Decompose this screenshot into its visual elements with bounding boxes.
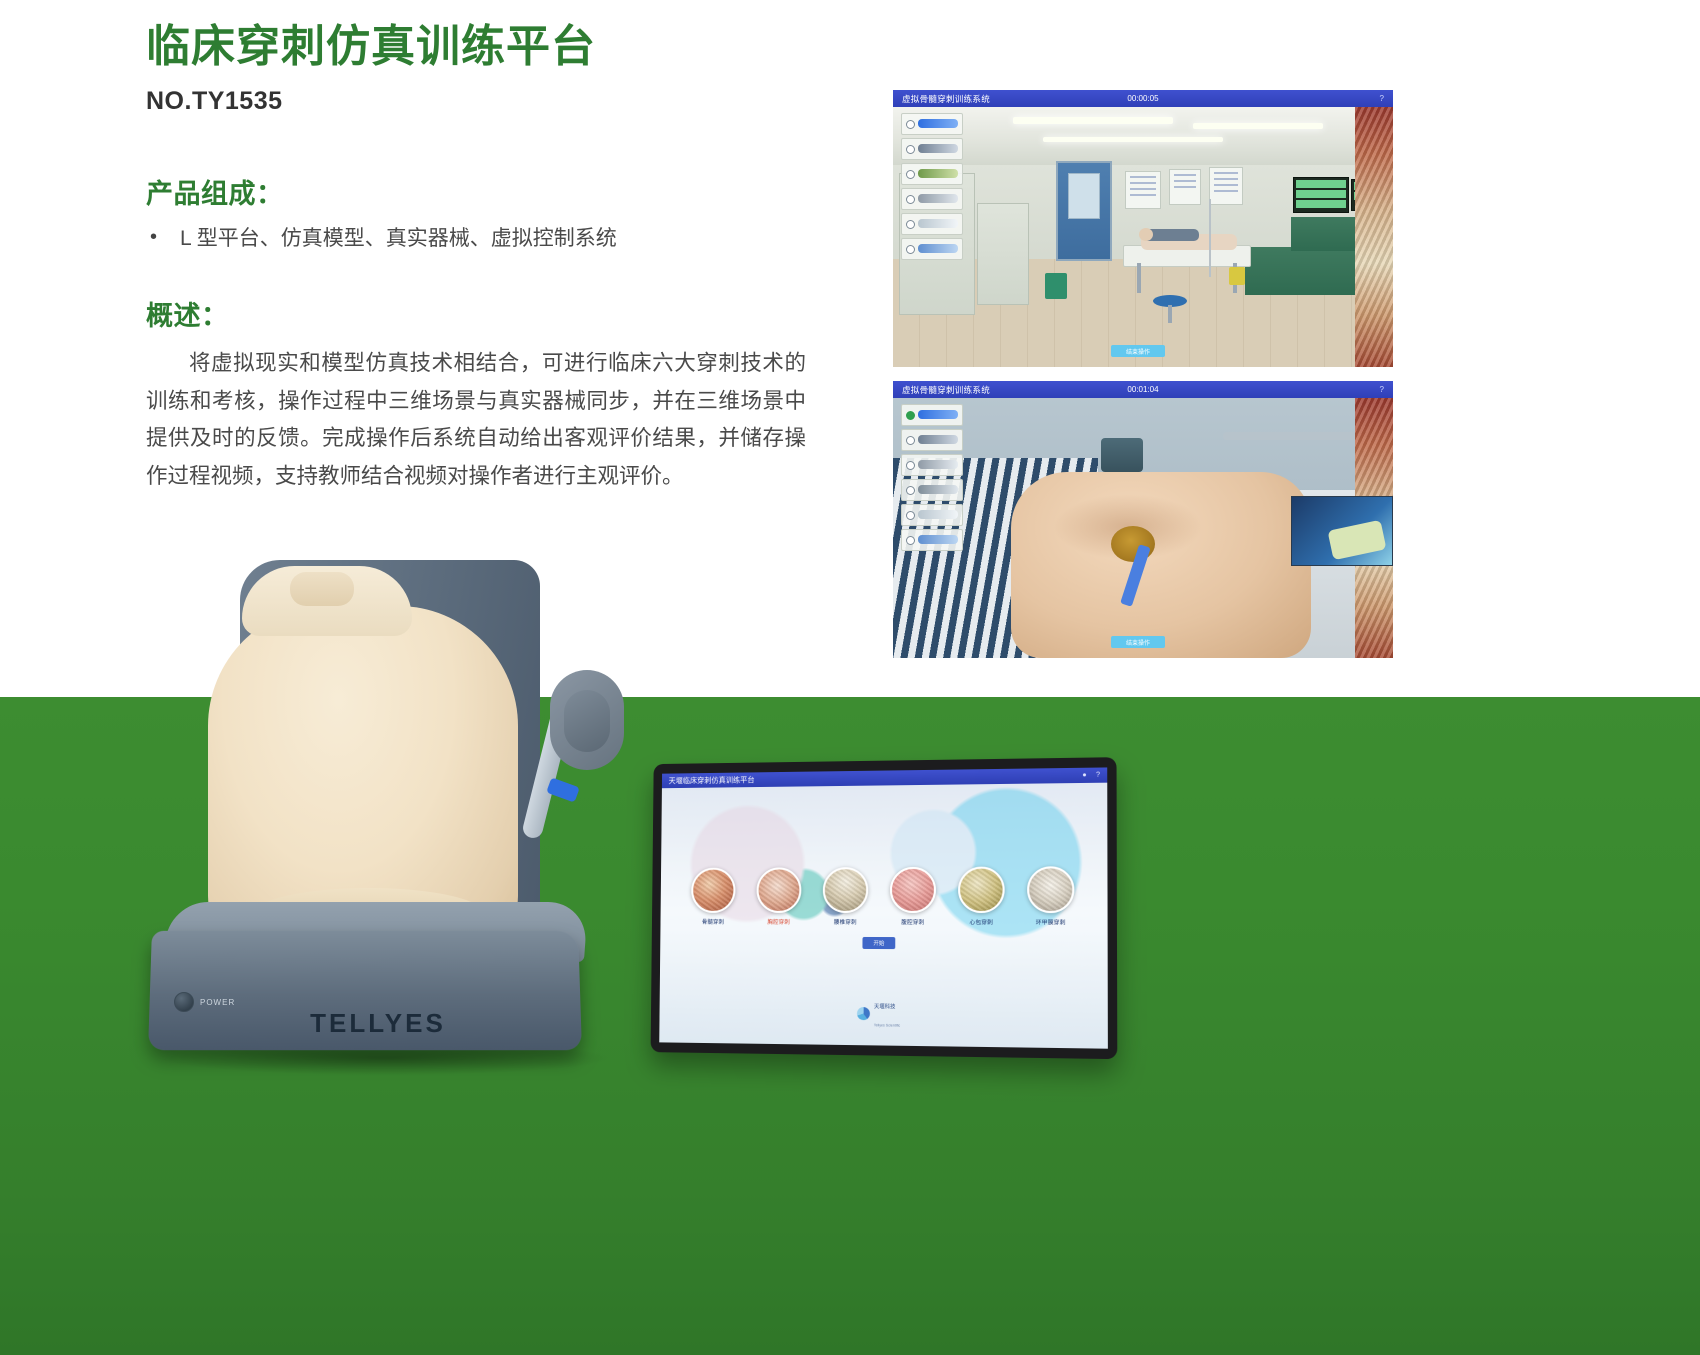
module-tile-thoracic[interactable]: 胸腔穿刺 — [754, 867, 803, 925]
screenshot-timer: 00:00:05 — [1127, 94, 1158, 103]
instrument-item[interactable] — [901, 504, 963, 526]
inset-camera-view — [1291, 496, 1393, 566]
vr-closeup-scene: 结束操作 — [893, 398, 1393, 658]
title-bar-actions: ● ? — [1082, 772, 1100, 779]
instrument-item[interactable] — [901, 404, 963, 426]
radio-icon[interactable] — [906, 170, 915, 179]
thoracic-icon — [756, 867, 801, 913]
instrument-item[interactable] — [901, 188, 963, 210]
finish-operation-button[interactable]: 结束操作 — [1111, 345, 1165, 357]
power-label: POWER — [200, 998, 235, 1007]
bone-marrow-icon — [691, 868, 736, 913]
screenshot-title-bar: 虚拟骨髓穿刺训练系统 00:01:04 ? — [893, 381, 1393, 398]
module-selector: 骨髓穿刺 胸腔穿刺 腰椎穿刺 腹腔穿刺 心包穿刺 — [660, 866, 1107, 926]
start-button[interactable]: 开始 — [862, 937, 895, 949]
logo-mark-icon — [857, 1007, 870, 1020]
instrument-item[interactable] — [901, 238, 963, 260]
module-label: 腰椎穿刺 — [821, 918, 870, 926]
cable-connector — [546, 777, 580, 802]
module-tile-bone-marrow[interactable]: 骨髓穿刺 — [689, 868, 737, 926]
module-tile-cricothyroid[interactable]: 环甲膜穿刺 — [1025, 866, 1076, 926]
module-tile-lumbar[interactable]: 腰椎穿刺 — [821, 867, 871, 926]
needle-icon — [918, 119, 958, 128]
iodine-prep-area — [1111, 526, 1155, 562]
instrument-item[interactable] — [901, 479, 963, 501]
module-label: 胸腔穿刺 — [754, 918, 803, 926]
radio-icon[interactable] — [906, 145, 915, 154]
list-item: • L 型平台、仿真模型、真实器械、虚拟控制系统 — [150, 223, 846, 255]
composition-heading: 产品组成： — [146, 172, 846, 211]
help-icon[interactable]: ? — [1380, 385, 1384, 394]
screenshot-viewport: 结束操作 — [893, 107, 1393, 367]
screenshot-vr-room: 虚拟骨髓穿刺训练系统 00:00:05 ? — [893, 90, 1393, 367]
overview-paragraph: 将虚拟现实和模型仿真技术相结合，可进行临床六大穿刺技术的训练和考核，操作过程中三… — [146, 345, 806, 496]
logo-name: 天堰科技 — [874, 1004, 896, 1010]
forceps-icon — [918, 485, 958, 494]
lumbar-icon — [823, 867, 869, 913]
syringe-icon — [918, 435, 958, 444]
syringe-icon — [918, 144, 958, 153]
needle-icon — [918, 410, 958, 419]
screenshot-vr-closeup: 虚拟骨髓穿刺训练系统 00:01:04 ? — [893, 381, 1393, 658]
radio-icon-selected[interactable] — [906, 411, 915, 420]
logo-text-block: 天堰科技 Tellyes Scientific — [874, 995, 900, 1032]
module-tile-pericardial[interactable]: 心包穿刺 — [956, 867, 1007, 927]
gauze-icon — [918, 510, 958, 519]
user-icon[interactable]: ● — [1082, 772, 1086, 779]
ceiling-light — [1043, 137, 1223, 142]
sensor-head-unit — [550, 670, 624, 770]
section-overview: 概述： 将虚拟现实和模型仿真技术相结合，可进行临床六大穿刺技术的训练和考核，操作… — [146, 294, 846, 496]
pericardial-icon — [958, 867, 1005, 914]
instrument-item[interactable] — [901, 529, 963, 551]
screenshot-timer: 00:01:04 — [1127, 385, 1158, 394]
instrument-panel — [901, 113, 963, 263]
company-logo: 天堰科技 Tellyes Scientific — [857, 995, 900, 1032]
monitor-rack — [1293, 177, 1349, 213]
radio-icon[interactable] — [906, 220, 915, 229]
abdominal-icon — [890, 867, 936, 913]
door — [1056, 161, 1112, 261]
app-main-canvas: 骨髓穿刺 胸腔穿刺 腰椎穿刺 腹腔穿刺 心包穿刺 — [659, 783, 1108, 1049]
bone-texture-panel — [1355, 107, 1393, 367]
content-column: 临床穿刺仿真训练平台 NO.TY1535 产品组成： • L 型平台、仿真模型、… — [146, 22, 846, 496]
bullet-icon: • — [150, 223, 180, 251]
power-button-icon[interactable] — [174, 992, 194, 1012]
cricothyroid-icon — [1027, 866, 1074, 913]
cabinet-left-2 — [977, 203, 1029, 305]
radio-icon[interactable] — [906, 461, 915, 470]
patient-head — [1139, 228, 1153, 241]
ceiling-light — [1013, 117, 1173, 124]
module-tile-abdominal[interactable]: 腹腔穿刺 — [888, 867, 938, 926]
anesthesia-needle-icon — [918, 535, 958, 544]
door-window — [1068, 173, 1100, 219]
instrument-item[interactable] — [901, 454, 963, 476]
gloved-hand — [1327, 520, 1386, 561]
power-control[interactable]: POWER — [174, 992, 235, 1012]
product-device-photo: POWER TELLYES — [150, 530, 620, 1070]
stool-stem — [1168, 305, 1172, 323]
wall-poster — [1209, 167, 1243, 205]
tablet-device: 天堰临床穿刺仿真训练平台 ● ? 骨髓穿刺 胸腔穿刺 腰椎穿刺 — [651, 757, 1118, 1059]
screenshot-title: 虚拟骨髓穿刺训练系统 — [902, 93, 990, 105]
screenshot-title-bar: 虚拟骨髓穿刺训练系统 00:00:05 ? — [893, 90, 1393, 107]
waste-bin — [1045, 273, 1067, 299]
gauze-icon — [918, 219, 958, 228]
module-label: 骨髓穿刺 — [689, 918, 737, 926]
anesthesia-needle-icon — [918, 244, 958, 253]
instrument-panel — [901, 404, 963, 554]
help-icon[interactable]: ? — [1096, 772, 1100, 779]
overview-heading: 概述： — [146, 294, 846, 333]
forceps-icon — [918, 194, 958, 203]
radio-icon[interactable] — [906, 436, 915, 445]
instrument-item[interactable] — [901, 163, 963, 185]
screenshot-title: 虚拟骨髓穿刺训练系统 — [902, 384, 990, 396]
sensor-head-inner — [564, 690, 610, 752]
tablet-screen: 天堰临床穿刺仿真训练平台 ● ? 骨髓穿刺 胸腔穿刺 腰椎穿刺 — [659, 767, 1108, 1048]
finish-operation-button[interactable]: 结束操作 — [1111, 636, 1165, 648]
module-label: 心包穿刺 — [956, 918, 1007, 926]
module-label: 腹腔穿刺 — [888, 918, 938, 926]
brand-logo: TELLYES — [268, 1008, 488, 1039]
radio-icon[interactable] — [906, 120, 915, 129]
swab-icon — [918, 460, 958, 469]
radio-icon[interactable] — [906, 486, 915, 495]
instrument-item[interactable] — [901, 429, 963, 451]
radio-icon[interactable] — [906, 511, 915, 520]
iv-pole — [1209, 199, 1211, 277]
radio-icon[interactable] — [906, 195, 915, 204]
manikin-neck-plate — [290, 572, 354, 606]
waste-bucket — [1101, 438, 1143, 472]
section-composition: 产品组成： • L 型平台、仿真模型、真实器械、虚拟控制系统 — [146, 172, 846, 255]
radio-icon[interactable] — [906, 536, 915, 545]
model-number: NO.TY1535 — [146, 87, 846, 116]
app-title: 天堰临床穿刺仿真训练平台 — [669, 774, 755, 786]
instrument-item[interactable] — [901, 213, 963, 235]
radio-icon[interactable] — [906, 245, 915, 254]
ceiling-light — [1193, 123, 1323, 129]
wall-poster — [1169, 169, 1201, 205]
screenshot-viewport: 结束操作 — [893, 398, 1393, 658]
composition-item-text: L 型平台、仿真模型、真实器械、虚拟控制系统 — [180, 223, 617, 255]
instrument-item[interactable] — [901, 113, 963, 135]
wall-poster — [1125, 171, 1161, 209]
instrument-item[interactable] — [901, 138, 963, 160]
page-title: 临床穿刺仿真训练平台 — [146, 22, 846, 73]
sharps-bin — [1229, 267, 1245, 285]
help-icon[interactable]: ? — [1380, 94, 1384, 103]
bed-leg — [1137, 263, 1141, 293]
module-label: 环甲膜穿刺 — [1025, 918, 1076, 926]
vr-room-scene: 结束操作 — [893, 107, 1393, 367]
swab-icon — [918, 169, 958, 178]
logo-subtitle: Tellyes Scientific — [874, 1023, 900, 1027]
